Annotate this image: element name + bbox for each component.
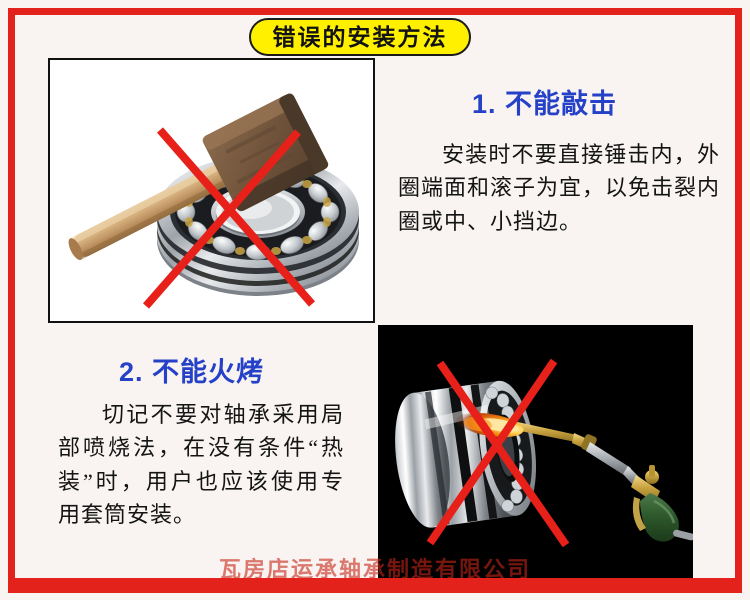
hammer-and-bearing-photo [48,58,375,323]
frame-border-left [8,8,15,593]
torch-bearing-illustration [378,325,693,578]
section-heading-no-flame-heating: 2. 不能火烤 [119,350,264,389]
frame-border-bottom [8,578,742,593]
section-heading-no-hammering: 1. 不能敲击 [472,82,617,121]
title-banner: 错误的安装方法 [249,18,471,56]
section-body-no-flame-heating: 切记不要对轴承采用局部喷烧法，在没有条件“热装”时，用户也应该使用专用套筒安装。 [58,398,344,532]
page-title: 错误的安装方法 [273,26,448,49]
frame-border-right [735,8,742,593]
section-body-no-hammering: 安装时不要直接锤击内，外圈端面和滚子为宜，以免击裂内圈或中、小挡边。 [398,138,720,238]
poster-root: 错误的安装方法 [0,0,750,600]
frame-border-top [8,8,742,15]
hammer-bearing-illustration [50,60,373,321]
torch-and-bearing-photo [378,325,693,578]
